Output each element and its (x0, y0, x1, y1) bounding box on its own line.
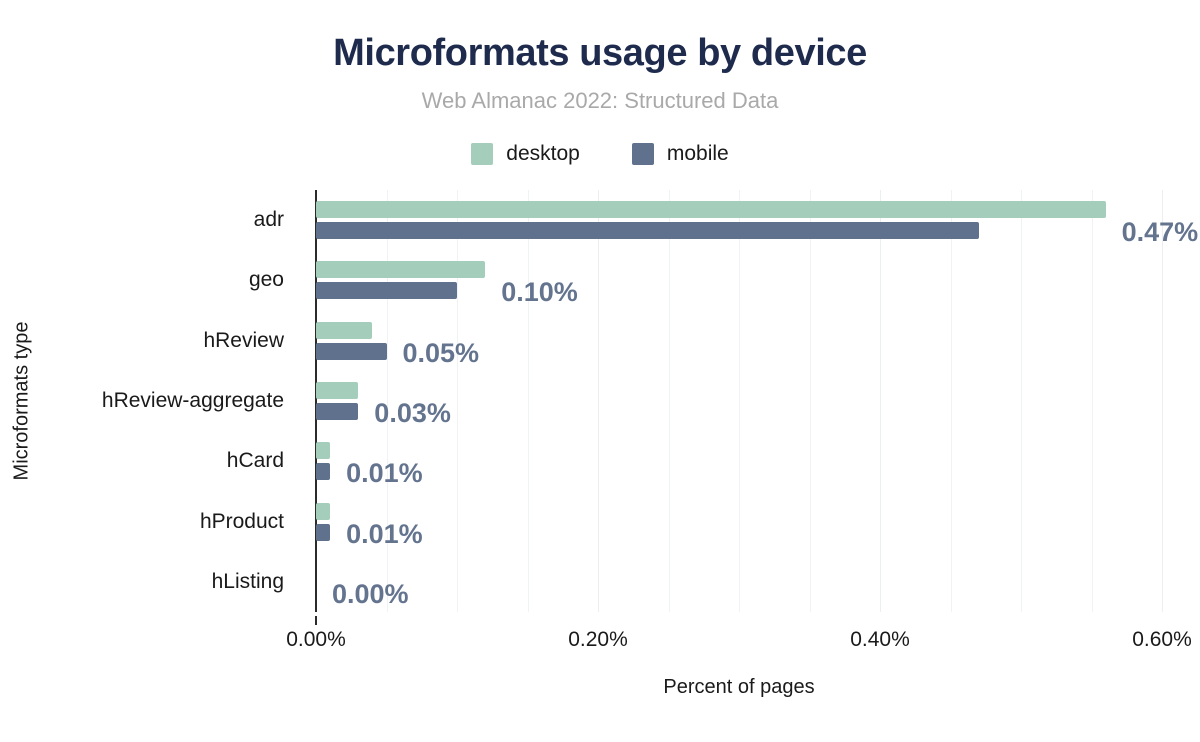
chart-container: Microformats usage by device Web Almanac… (0, 0, 1200, 742)
chart-legend: desktop mobile (0, 142, 1200, 166)
legend-item-desktop[interactable]: desktop (471, 142, 580, 166)
x-tick-label: 0.00% (286, 628, 346, 652)
bar-value-label: 0.01% (346, 519, 423, 550)
legend-label-mobile: mobile (667, 142, 729, 166)
gridline-minor (951, 190, 952, 612)
x-axis-title: Percent of pages (316, 676, 1162, 699)
bar-value-label: 0.10% (501, 277, 578, 308)
bar-mobile[interactable] (316, 222, 979, 239)
x-axis-tick-labels: 0.00%0.20%0.40%0.60% (0, 616, 1200, 660)
y-tick-label: hCard (227, 449, 284, 473)
bar-value-label: 0.01% (346, 458, 423, 489)
gridline-minor (810, 190, 811, 612)
bar-value-label: 0.47% (1122, 217, 1199, 248)
y-axis-tick-labels: adrgeohReviewhReview-aggregatehCardhProd… (0, 190, 300, 612)
y-axis-title: Microformats type (11, 322, 34, 481)
bar-desktop[interactable] (316, 261, 485, 278)
legend-label-desktop: desktop (506, 142, 580, 166)
gridline-minor (1021, 190, 1022, 612)
y-tick-label: hReview-aggregate (102, 389, 284, 413)
bar-value-label: 0.03% (374, 398, 451, 429)
chart-subtitle: Web Almanac 2022: Structured Data (0, 88, 1200, 114)
bar-mobile[interactable] (316, 343, 387, 360)
y-tick-label: geo (249, 268, 284, 292)
gridline-minor (739, 190, 740, 612)
x-tick-label: 0.20% (568, 628, 628, 652)
bar-mobile[interactable] (316, 403, 358, 420)
gridline-major (598, 190, 599, 612)
bar-desktop[interactable] (316, 503, 330, 520)
chart-title: Microformats usage by device (0, 32, 1200, 75)
gridline-major (1162, 190, 1163, 612)
gridline-major (880, 190, 881, 612)
gridline-minor (1092, 190, 1093, 612)
bar-mobile[interactable] (316, 282, 457, 299)
plot-area: 0.47%0.10%0.05%0.03%0.01%0.01%0.00% (316, 190, 1162, 612)
bar-desktop[interactable] (316, 201, 1106, 218)
legend-item-mobile[interactable]: mobile (632, 142, 729, 166)
bar-value-label: 0.00% (332, 579, 409, 610)
gridline-minor (669, 190, 670, 612)
gridline-minor (457, 190, 458, 612)
x-tick-mark (315, 616, 317, 625)
bar-desktop[interactable] (316, 322, 372, 339)
bar-mobile[interactable] (316, 524, 330, 541)
y-axis-line (315, 190, 317, 612)
bar-desktop[interactable] (316, 442, 330, 459)
legend-swatch-mobile (632, 143, 654, 165)
legend-swatch-desktop (471, 143, 493, 165)
x-tick-label: 0.60% (1132, 628, 1192, 652)
y-tick-label: hReview (203, 329, 284, 353)
bar-value-label: 0.05% (403, 338, 480, 369)
bar-desktop[interactable] (316, 382, 358, 399)
gridline-minor (528, 190, 529, 612)
y-tick-label: hProduct (200, 510, 284, 534)
y-tick-label: adr (254, 208, 284, 232)
y-tick-label: hListing (212, 570, 284, 594)
bar-mobile[interactable] (316, 463, 330, 480)
x-tick-label: 0.40% (850, 628, 910, 652)
